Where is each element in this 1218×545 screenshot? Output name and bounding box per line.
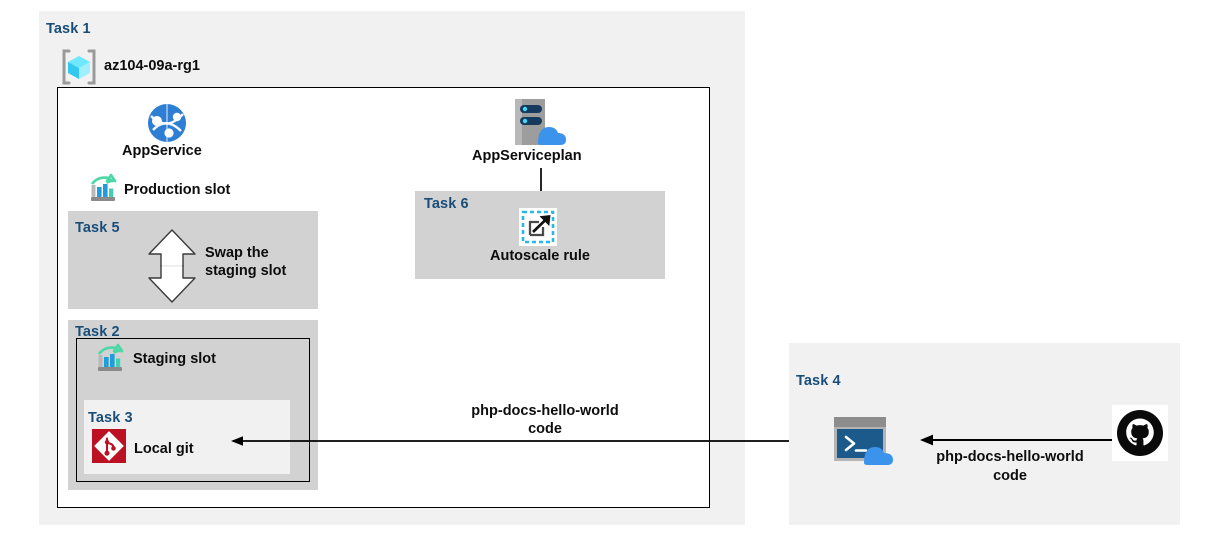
arrow-cloudshell-to-localgit xyxy=(228,431,820,451)
autoscale-rule-label: Autoscale rule xyxy=(490,247,590,265)
task6-label: Task 6 xyxy=(424,196,469,212)
app-service-globe-icon xyxy=(146,102,188,144)
diagram-canvas: Task 1 az104-09a-rg1 AppService xyxy=(0,0,1218,545)
app-service-plan-icon xyxy=(508,97,570,149)
github-octocat-icon xyxy=(1112,405,1168,461)
appservice-label: AppService xyxy=(122,142,202,160)
task5-action-line2: staging slot xyxy=(205,262,286,280)
center-edge-label-line1: php-docs-hello-world xyxy=(440,402,650,420)
task4-label: Task 4 xyxy=(796,373,841,389)
resource-group-cube-icon xyxy=(60,49,98,85)
cloud-shell-icon xyxy=(833,415,899,467)
git-icon xyxy=(92,429,126,463)
task4-edge-label-line2: code xyxy=(905,467,1115,485)
production-slot-label: Production slot xyxy=(124,181,230,199)
task5-label: Task 5 xyxy=(75,220,120,236)
staging-slot-label: Staging slot xyxy=(133,350,216,368)
appserviceplan-label: AppServiceplan xyxy=(472,147,582,165)
task1-label: Task 1 xyxy=(46,21,91,37)
resource-group-name: az104-09a-rg1 xyxy=(104,57,200,75)
task3-label: Task 3 xyxy=(88,410,133,426)
swap-up-down-arrow-icon xyxy=(146,229,198,303)
arrow-github-to-cloudshell xyxy=(918,430,1112,450)
autoscale-rule-icon xyxy=(519,208,557,246)
deployment-slot-icon-staging xyxy=(95,345,125,373)
task5-action-line1: Swap the xyxy=(205,244,269,262)
deployment-slot-icon-production xyxy=(88,175,118,203)
local-git-label: Local git xyxy=(134,440,194,458)
task4-edge-label-line1: php-docs-hello-world xyxy=(905,448,1115,466)
